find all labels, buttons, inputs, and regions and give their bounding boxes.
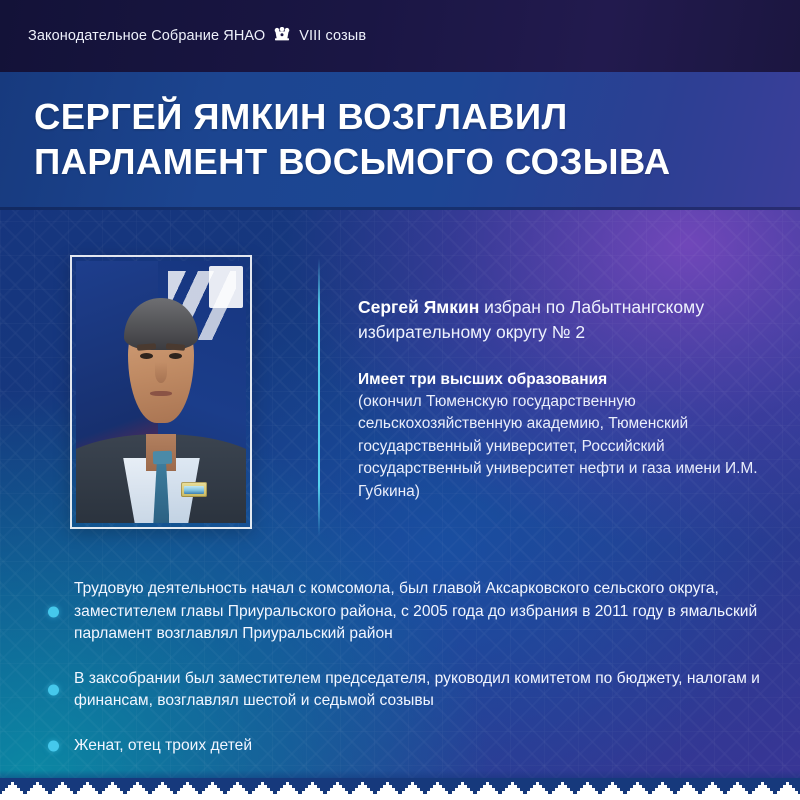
info-lead: Сергей Ямкин избран по Лабытнангскому из… (358, 295, 773, 345)
deputy-name: Сергей Ямкин (358, 297, 479, 317)
page-title-line2: ПАРЛАМЕНТ ВОСЬМОГО СОЗЫВА (34, 139, 774, 184)
list-item: Женат, отец троих детей (48, 735, 766, 758)
northern-pattern-icon (0, 778, 800, 800)
info-panel: Сергей Ямкин избран по Лабытнангскому из… (358, 295, 773, 503)
bullet-text: В заксобрании был заместителем председат… (74, 668, 766, 713)
page-title-line1: СЕРГЕЙ ЯМКИН ВОЗГЛАВИЛ (34, 94, 774, 139)
list-item: В заксобрании был заместителем председат… (48, 668, 766, 713)
bullet-dot-icon (48, 741, 59, 752)
bullet-dot-icon (48, 606, 59, 617)
deputy-badge-icon (181, 482, 207, 496)
education-body: (окончил Тюменскую государственную сельс… (358, 391, 773, 503)
crown-emblem-icon (274, 27, 290, 46)
topbar-label: Законодательное Собрание ЯНАО (28, 28, 265, 44)
education-heading: Имеет три высших образования (358, 371, 773, 389)
page-title: СЕРГЕЙ ЯМКИН ВОЗГЛАВИЛ ПАРЛАМЕНТ ВОСЬМОГ… (34, 94, 774, 185)
vertical-divider (318, 258, 320, 536)
portrait-photo (76, 261, 246, 523)
bullet-text: Женат, отец троих детей (74, 735, 252, 758)
topbar-convocation: VIII созыв (299, 28, 366, 44)
education-block: Имеет три высших образования (окончил Тю… (358, 371, 773, 503)
poster: Законодательное Собрание ЯНАО VIII созыв… (0, 0, 800, 800)
topbar: Законодательное Собрание ЯНАО VIII созыв (0, 0, 800, 72)
topbar-content: Законодательное Собрание ЯНАО VIII созыв (28, 0, 366, 72)
list-item: Трудовую деятельность начал с комсомола,… (48, 578, 766, 646)
portrait-frame (70, 255, 252, 529)
bottom-ornament (0, 770, 800, 800)
bullet-text: Трудовую деятельность начал с комсомола,… (74, 578, 766, 646)
bullet-list: Трудовую деятельность начал с комсомола,… (48, 578, 766, 780)
bullet-dot-icon (48, 685, 59, 696)
title-band: СЕРГЕЙ ЯМКИН ВОЗГЛАВИЛ ПАРЛАМЕНТ ВОСЬМОГ… (0, 72, 800, 210)
